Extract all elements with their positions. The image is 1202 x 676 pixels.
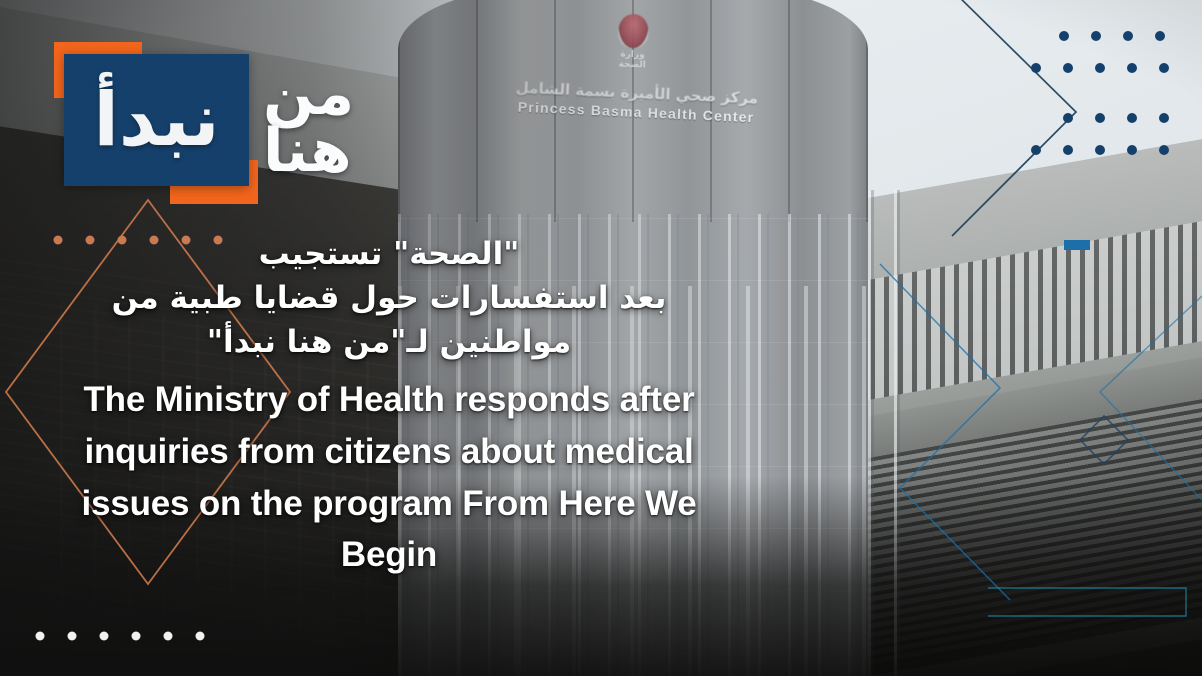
- logo-secondary-words: من هنا: [263, 48, 398, 198]
- headline-arabic-line-2: بعد استفسارات حول قضايا طبية من: [36, 276, 742, 320]
- headline-arabic-line-1: "الصحة" تستجيب: [36, 232, 742, 276]
- headline-arabic: "الصحة" تستجيب بعد استفسارات حول قضايا ط…: [36, 232, 742, 364]
- logo-word-huna: هنا: [263, 123, 352, 180]
- logo-primary-word: نبدأ: [64, 54, 249, 186]
- news-graphic-card: وزارة الصحة مركز صحي الأميرة بسمة الشامل…: [0, 0, 1202, 676]
- headline-block: "الصحة" تستجيب بعد استفسارات حول قضايا ط…: [36, 232, 742, 581]
- headline-english: The Ministry of Health responds after in…: [36, 374, 742, 581]
- headline-arabic-line-3: مواطنين لـ"من هنا نبدأ": [36, 320, 742, 364]
- logo-word-min: من: [263, 66, 354, 123]
- program-logo[interactable]: نبدأ من هنا: [58, 40, 398, 205]
